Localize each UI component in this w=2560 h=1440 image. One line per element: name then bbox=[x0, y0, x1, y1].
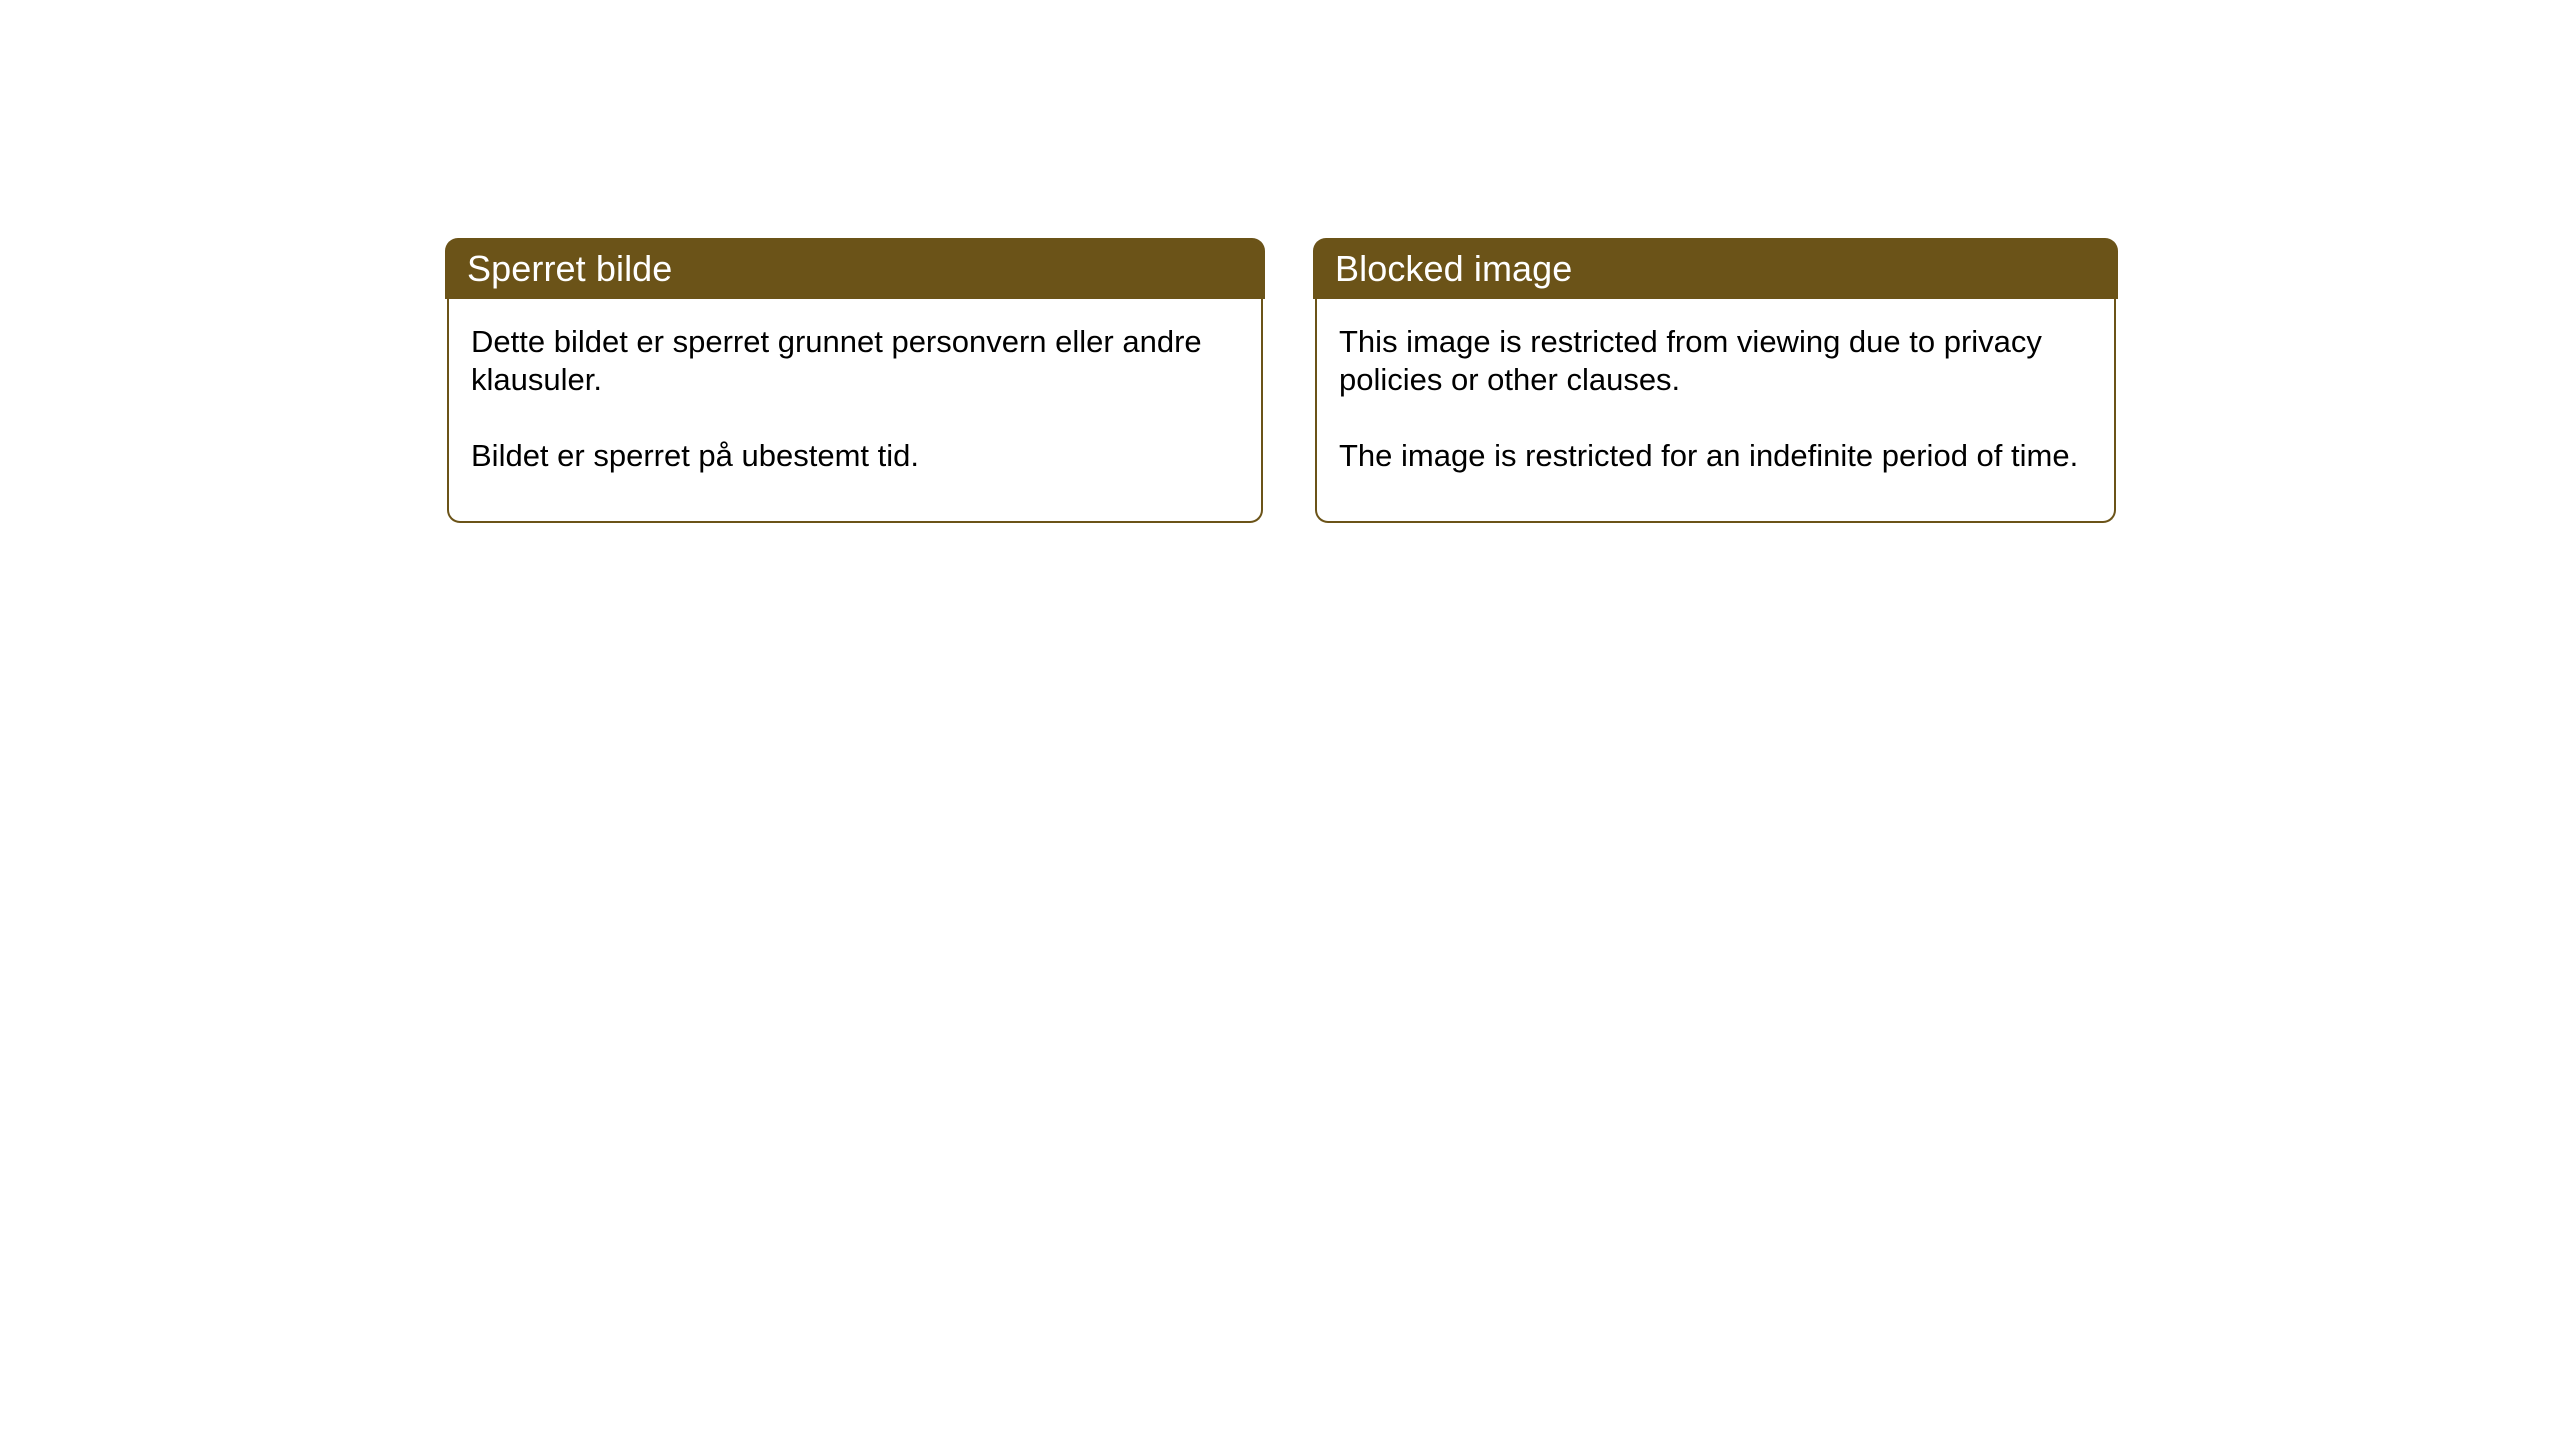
blocked-image-card-english: Blocked image This image is restricted f… bbox=[1315, 238, 2116, 523]
card-paragraph-norwegian-1: Dette bildet er sperret grunnet personve… bbox=[471, 323, 1239, 399]
card-paragraph-norwegian-2: Bildet er sperret på ubestemt tid. bbox=[471, 437, 1239, 475]
card-title-norwegian: Sperret bilde bbox=[467, 249, 672, 289]
card-paragraph-english-1: This image is restricted from viewing du… bbox=[1339, 323, 2092, 399]
blocked-image-notice-group: Sperret bilde Dette bildet er sperret gr… bbox=[447, 238, 2116, 523]
card-title-english: Blocked image bbox=[1335, 249, 1572, 289]
card-paragraph-english-2: The image is restricted for an indefinit… bbox=[1339, 437, 2092, 475]
card-body-english: This image is restricted from viewing du… bbox=[1315, 299, 2116, 523]
card-body-norwegian: Dette bildet er sperret grunnet personve… bbox=[447, 299, 1263, 523]
page-canvas: Sperret bilde Dette bildet er sperret gr… bbox=[0, 0, 2560, 1440]
card-header-english: Blocked image bbox=[1313, 238, 2118, 299]
card-header-norwegian: Sperret bilde bbox=[445, 238, 1265, 299]
blocked-image-card-norwegian: Sperret bilde Dette bildet er sperret gr… bbox=[447, 238, 1263, 523]
